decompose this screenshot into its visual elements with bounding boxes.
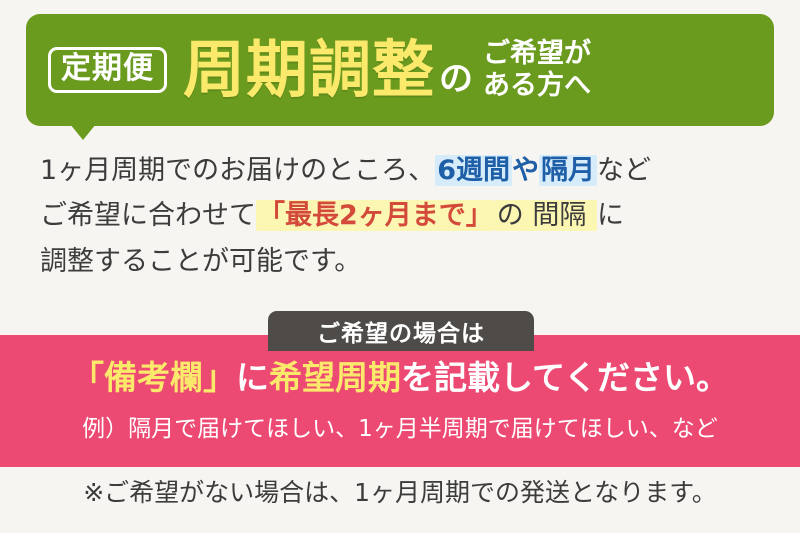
green-banner: 定期便 周期調整 の ご希望が ある方へ bbox=[26, 14, 774, 126]
banner-headline-particle: の bbox=[439, 62, 473, 126]
description-highlight-6weeks: 6週間 bbox=[435, 155, 512, 186]
pink-callout-examples: 例）隔月で届けてほしい、1ヶ月半周期で届けてほしい、など bbox=[0, 418, 800, 441]
description-highlight-bimonthly: 隔月 bbox=[539, 155, 597, 186]
banner-headline: 周期調整 bbox=[183, 39, 435, 101]
description-line1-part-a: 1ヶ月周期でのお届けのところ、 bbox=[40, 155, 435, 186]
pink-headline-part-d: を記載してください。 bbox=[401, 358, 729, 397]
banner-content: 定期便 周期調整 の ご希望が ある方へ bbox=[26, 14, 774, 126]
request-case-tab: ご希望の場合は bbox=[268, 311, 534, 351]
subscription-pill-label: 定期便 bbox=[48, 47, 167, 93]
description-line2-part-d: に bbox=[597, 200, 624, 231]
banner-section: 定期便 周期調整 の ご希望が ある方へ bbox=[0, 0, 800, 140]
description-paragraph: 1ヶ月周期でのお届けのところ、6週間や隔月など ご希望に合わせて「最長2ヶ月まで… bbox=[40, 148, 780, 284]
footer-default-note: ※ご希望がない場合は、1ヶ月周期での発送となります。 bbox=[0, 480, 800, 505]
pink-callout-band bbox=[0, 335, 800, 467]
description-line1-part-e: など bbox=[597, 155, 651, 186]
description-line1-part-c: や bbox=[512, 155, 539, 186]
pink-callout-headline: 「備考欄」に希望周期を記載してください。 bbox=[0, 361, 800, 394]
banner-subheadline-line1: ご希望が bbox=[483, 38, 591, 69]
description-line-2: ご希望に合わせて「最長2ヶ月まで」の 間隔 に bbox=[40, 193, 780, 238]
description-line2-part-c: の 間隔 bbox=[495, 200, 597, 231]
pink-headline-part-b: に bbox=[236, 358, 269, 397]
description-line-3: 調整することが可能です。 bbox=[40, 239, 780, 284]
banner-subheadline: ご希望が ある方へ bbox=[483, 38, 591, 102]
pink-headline-desired-cycle: 希望周期 bbox=[269, 358, 401, 397]
description-line-1: 1ヶ月周期でのお届けのところ、6週間や隔月など bbox=[40, 148, 780, 193]
banner-pointer-triangle bbox=[70, 124, 96, 140]
banner-subheadline-line2: ある方へ bbox=[483, 70, 591, 101]
description-line2-part-a: ご希望に合わせて bbox=[40, 200, 256, 231]
description-highlight-max-2months: 「最長2ヶ月まで」 bbox=[256, 200, 495, 231]
pink-headline-remarks-field: 「備考欄」 bbox=[71, 358, 236, 397]
